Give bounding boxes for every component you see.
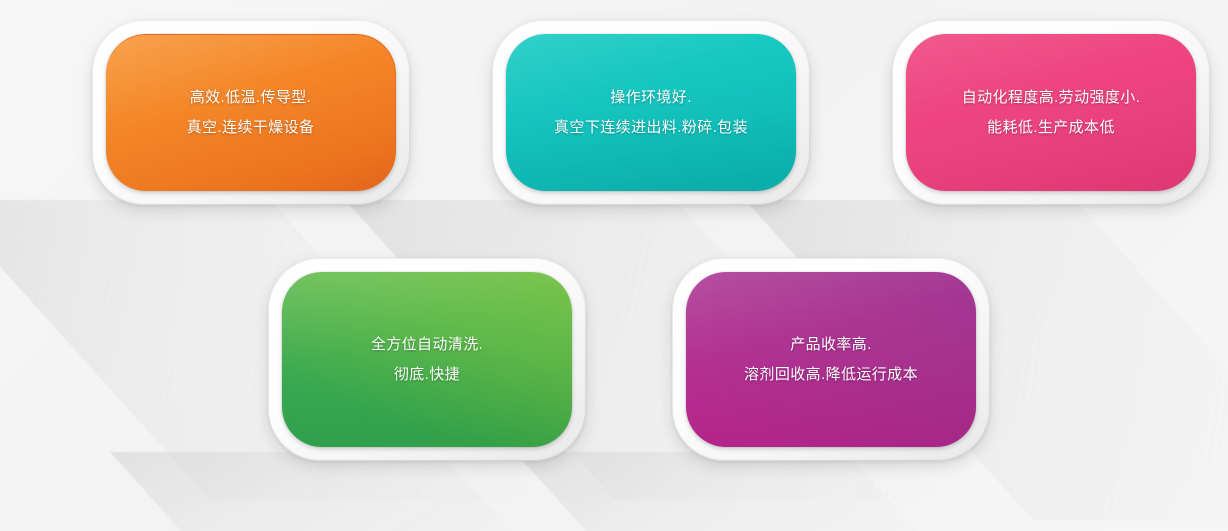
card-streak-shadow-5 [515,452,953,531]
card-streak-shadow-4 [110,452,548,531]
card-label: 操作环境好. 真空下连续进出料.粉碎.包装 [540,83,762,143]
card-tile[interactable]: 操作环境好. 真空下连续进出料.粉碎.包装 [506,34,796,191]
feature-card-orange[interactable]: 高效.低温.传导型. 真空.连续干燥设备 [92,20,410,205]
card-tile[interactable]: 产品收率高. 溶剂回收高.降低运行成本 [686,272,976,447]
card-label: 自动化程度高.劳动强度小. 能耗低.生产成本低 [948,83,1155,143]
feature-card-teal[interactable]: 操作环境好. 真空下连续进出料.粉碎.包装 [492,20,810,205]
feature-card-pink[interactable]: 自动化程度高.劳动强度小. 能耗低.生产成本低 [892,20,1210,205]
feature-card-green[interactable]: 全方位自动清洗. 彻底.快捷 [268,258,586,461]
card-tile[interactable]: 自动化程度高.劳动强度小. 能耗低.生产成本低 [906,34,1196,191]
card-label: 全方位自动清洗. 彻底.快捷 [357,330,497,390]
card-tile[interactable]: 全方位自动清洗. 彻底.快捷 [282,272,572,447]
feature-card-purple[interactable]: 产品收率高. 溶剂回收高.降低运行成本 [672,258,990,461]
card-label: 高效.低温.传导型. 真空.连续干燥设备 [173,83,329,143]
card-tile[interactable]: 高效.低温.传导型. 真空.连续干燥设备 [106,34,396,191]
infographic-canvas: 高效.低温.传导型. 真空.连续干燥设备 操作环境好. 真空下连续进出料.粉碎.… [0,0,1228,531]
card-label: 产品收率高. 溶剂回收高.降低运行成本 [730,330,932,390]
